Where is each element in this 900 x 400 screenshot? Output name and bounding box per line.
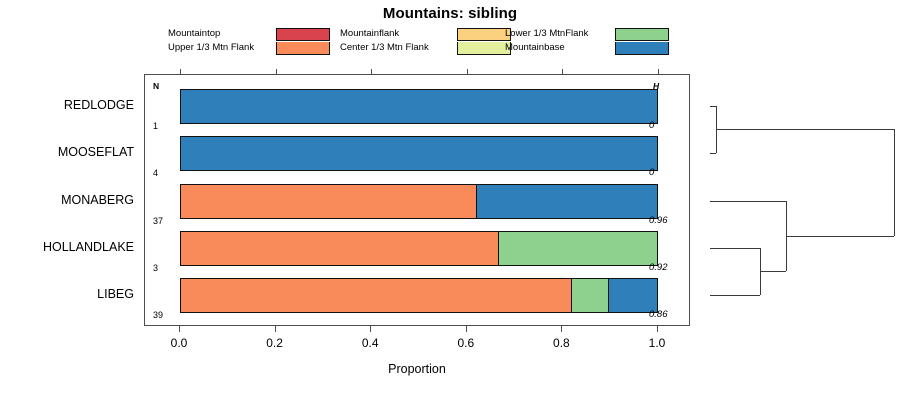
bar-row[interactable] — [180, 136, 658, 171]
stacked-bar — [180, 184, 658, 219]
legend-item: Mountaintop — [168, 27, 330, 41]
stacked-bar — [180, 278, 658, 313]
x-axis — [144, 326, 690, 327]
y-category-label: REDLODGE — [0, 98, 134, 112]
x-tick — [657, 326, 658, 332]
x-tick — [466, 326, 467, 332]
plot-panel: N H 1040370.9630.92390.86 — [144, 74, 690, 326]
panel-tick-top — [180, 69, 181, 74]
stacked-bar — [180, 231, 658, 266]
legend-column-2: Lower 1/3 MtnFlank Mountainbase — [505, 27, 669, 55]
chart-title: Mountains: sibling — [0, 5, 900, 22]
h-value: 0.96 — [649, 215, 668, 226]
x-tick-label: 0.0 — [171, 336, 188, 350]
bar-row[interactable] — [180, 278, 658, 313]
legend-label: Mountainbase — [505, 41, 615, 55]
dendrogram-branch — [716, 129, 894, 130]
legend-label: Mountainflank — [340, 27, 457, 41]
chart-root: Mountains: sibling Mountaintop Upper 1/3… — [0, 0, 900, 400]
h-value: 0 — [649, 167, 654, 178]
bar-segment[interactable] — [181, 185, 476, 218]
legend-swatch-mountaintop — [276, 28, 330, 41]
panel-tick-top — [562, 69, 563, 74]
stacked-bar — [180, 136, 658, 171]
dendrogram-leaf-hollandlake — [710, 248, 760, 249]
bar-row[interactable] — [180, 231, 658, 266]
n-value: 39 — [153, 310, 163, 320]
bar-segment[interactable] — [608, 279, 657, 312]
h-value: 0.92 — [649, 262, 668, 273]
legend-column-0: Mountaintop Upper 1/3 Mtn Flank — [168, 27, 330, 55]
n-value: 37 — [153, 216, 163, 226]
y-category-label: MONABERG — [0, 193, 134, 207]
legend-item: Center 1/3 Mtn Flank — [340, 41, 511, 55]
legend-swatch-upper-third — [276, 42, 330, 55]
x-tick-label: 0.8 — [553, 336, 570, 350]
bar-row[interactable] — [180, 89, 658, 124]
x-axis-title: Proportion — [144, 362, 690, 376]
legend-item: Upper 1/3 Mtn Flank — [168, 41, 330, 55]
bar-segment[interactable] — [181, 90, 657, 123]
legend-swatch-mountainbase — [615, 42, 669, 55]
dendrogram-branch — [760, 271, 786, 272]
bar-segment[interactable] — [571, 279, 608, 312]
bar-segment[interactable] — [498, 232, 657, 265]
n-value: 3 — [153, 263, 158, 273]
h-value: 0 — [649, 120, 654, 131]
h-value: 0.86 — [649, 309, 668, 320]
dendrogram-leaf-monaberg — [710, 201, 786, 202]
panel-tick-top — [658, 69, 659, 74]
legend-item: Mountainflank — [340, 27, 511, 41]
legend-swatch-mountainflank — [457, 28, 511, 41]
x-tick — [561, 326, 562, 332]
bar-row[interactable] — [180, 184, 658, 219]
legend: Mountaintop Upper 1/3 Mtn Flank Mountain… — [168, 27, 668, 57]
bar-segment[interactable] — [181, 232, 498, 265]
bar-segment[interactable] — [181, 137, 657, 170]
legend-label: Lower 1/3 MtnFlank — [505, 27, 615, 41]
dendrogram — [690, 74, 900, 326]
x-tick-label: 0.6 — [457, 336, 474, 350]
legend-label: Center 1/3 Mtn Flank — [340, 41, 457, 55]
legend-swatch-center-third — [457, 42, 511, 55]
x-tick-label: 1.0 — [649, 336, 666, 350]
x-tick — [275, 326, 276, 332]
legend-label: Upper 1/3 Mtn Flank — [168, 41, 276, 55]
panel-tick-top — [276, 69, 277, 74]
y-category-label: HOLLANDLAKE — [0, 240, 134, 254]
x-tick-label: 0.2 — [266, 336, 283, 350]
stacked-bar — [180, 89, 658, 124]
legend-item: Lower 1/3 MtnFlank — [505, 27, 669, 41]
dendrogram-leaf-mooseflat — [710, 153, 716, 154]
legend-label: Mountaintop — [168, 27, 276, 41]
n-value: 4 — [153, 168, 158, 178]
dendrogram-branch — [786, 236, 894, 237]
dendrogram-leaf-libeg — [710, 295, 760, 296]
n-column-header: N — [153, 81, 159, 91]
x-tick — [179, 326, 180, 332]
n-value: 1 — [153, 121, 158, 131]
x-tick — [370, 326, 371, 332]
panel-tick-top — [467, 69, 468, 74]
legend-column-1: Mountainflank Center 1/3 Mtn Flank — [340, 27, 511, 55]
y-category-label: LIBEG — [0, 287, 134, 301]
y-category-label: MOOSEFLAT — [0, 145, 134, 159]
bar-segment[interactable] — [181, 279, 571, 312]
x-tick-label: 0.4 — [362, 336, 379, 350]
bar-segment[interactable] — [476, 185, 657, 218]
dendrogram-root — [894, 129, 895, 236]
legend-item: Mountainbase — [505, 41, 669, 55]
legend-swatch-lower-third — [615, 28, 669, 41]
panel-tick-top — [371, 69, 372, 74]
